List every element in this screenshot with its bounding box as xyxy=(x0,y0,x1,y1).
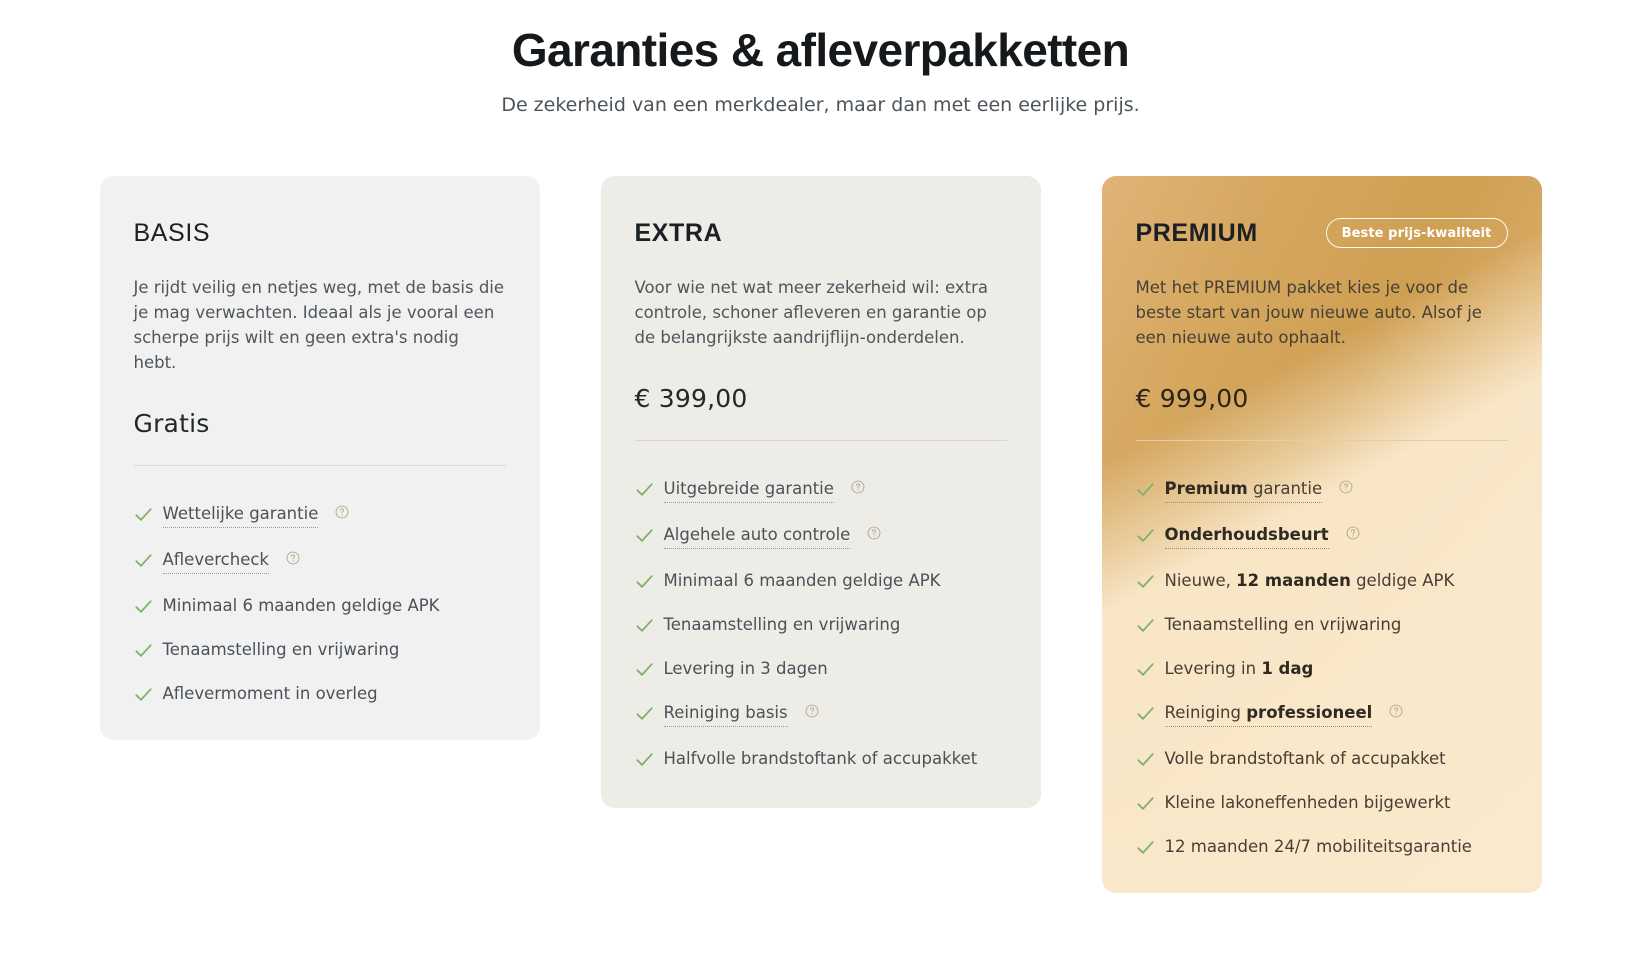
check-icon xyxy=(134,551,153,570)
card-price-basis: Gratis xyxy=(134,409,506,439)
check-icon xyxy=(1136,480,1155,499)
check-icon xyxy=(635,750,654,769)
feature-label: Volle brandstoftank of accupakket xyxy=(1165,747,1446,771)
package-card-extra[interactable]: EXTRAVoor wie net wat meer zekerheid wil… xyxy=(601,176,1041,808)
card-description-premium: Met het PREMIUM pakket kies je voor de b… xyxy=(1136,275,1508,350)
feature-item: Minimaal 6 maanden geldige APK xyxy=(635,569,1007,593)
feature-label: Tenaamstelling en vrijwaring xyxy=(664,613,901,637)
feature-item: Kleine lakoneffenheden bijgewerkt xyxy=(1136,791,1508,815)
card-description-extra: Voor wie net wat meer zekerheid wil: ext… xyxy=(635,275,1007,350)
card-description-basis: Je rijdt veilig en netjes weg, met de ba… xyxy=(134,275,506,375)
feature-label: 12 maanden 24/7 mobiliteitsgarantie xyxy=(1165,835,1472,859)
card-header-extra: EXTRA xyxy=(635,216,1007,250)
feature-list-extra: Uitgebreide garantieAlgehele auto contro… xyxy=(635,441,1007,771)
check-icon xyxy=(1136,660,1155,679)
feature-label: Premium garantie xyxy=(1165,477,1323,503)
feature-label: Levering in 3 dagen xyxy=(664,657,828,681)
feature-item[interactable]: Onderhoudsbeurt xyxy=(1136,523,1508,549)
check-icon xyxy=(1136,750,1155,769)
feature-item: Aflevermoment in overleg xyxy=(134,682,506,706)
check-icon xyxy=(134,597,153,616)
feature-list-basis: Wettelijke garantieAflevercheckMinimaal … xyxy=(134,466,506,706)
check-icon xyxy=(1136,572,1155,591)
check-icon xyxy=(134,685,153,704)
pricing-page: Garanties & afleverpakketten De zekerhei… xyxy=(0,0,1641,960)
check-icon xyxy=(134,641,153,660)
check-icon xyxy=(1136,616,1155,635)
feature-label: Reiniging professioneel xyxy=(1165,701,1373,727)
feature-label: Levering in 1 dag xyxy=(1165,657,1314,681)
help-circle-icon[interactable] xyxy=(1346,526,1360,540)
feature-label: Kleine lakoneffenheden bijgewerkt xyxy=(1165,791,1451,815)
card-title-premium: PREMIUM xyxy=(1136,218,1258,248)
feature-label: Tenaamstelling en vrijwaring xyxy=(163,638,400,662)
best-value-badge: Beste prijs-kwaliteit xyxy=(1326,218,1508,248)
feature-label: Tenaamstelling en vrijwaring xyxy=(1165,613,1402,637)
help-circle-icon[interactable] xyxy=(805,704,819,718)
help-circle-icon[interactable] xyxy=(1389,704,1403,718)
package-card-premium[interactable]: PREMIUMBeste prijs-kwaliteitMet het PREM… xyxy=(1102,176,1542,893)
feature-item: 12 maanden 24/7 mobiliteitsgarantie xyxy=(1136,835,1508,859)
check-icon xyxy=(635,704,654,723)
feature-label: Nieuwe, 12 maanden geldige APK xyxy=(1165,569,1455,593)
check-icon xyxy=(635,480,654,499)
check-icon xyxy=(635,660,654,679)
feature-label: Halfvolle brandstoftank of accupakket xyxy=(664,747,978,771)
check-icon xyxy=(1136,794,1155,813)
page-title: Garanties & afleverpakketten xyxy=(0,22,1641,78)
feature-label: Onderhoudsbeurt xyxy=(1165,523,1329,549)
feature-item[interactable]: Algehele auto controle xyxy=(635,523,1007,549)
feature-list-premium: Premium garantieOnderhoudsbeurtNieuwe, 1… xyxy=(1136,441,1508,859)
check-icon xyxy=(134,505,153,524)
feature-item: Tenaamstelling en vrijwaring xyxy=(134,638,506,662)
feature-item: Nieuwe, 12 maanden geldige APK xyxy=(1136,569,1508,593)
help-circle-icon[interactable] xyxy=(1339,480,1353,494)
card-title-extra: EXTRA xyxy=(635,218,723,248)
feature-label: Aflevercheck xyxy=(163,548,269,574)
help-circle-icon[interactable] xyxy=(335,505,349,519)
feature-label: Minimaal 6 maanden geldige APK xyxy=(664,569,941,593)
check-icon xyxy=(1136,526,1155,545)
feature-label: Wettelijke garantie xyxy=(163,502,319,528)
help-circle-icon[interactable] xyxy=(867,526,881,540)
card-price-premium: € 999,00 xyxy=(1136,384,1508,414)
feature-label: Reiniging basis xyxy=(664,701,788,727)
feature-item[interactable]: Uitgebreide garantie xyxy=(635,477,1007,503)
package-cards-container: BASISJe rijdt veilig en netjes weg, met … xyxy=(0,176,1641,893)
feature-item: Tenaamstelling en vrijwaring xyxy=(1136,613,1508,637)
feature-label: Minimaal 6 maanden geldige APK xyxy=(163,594,440,618)
check-icon xyxy=(1136,838,1155,857)
feature-label: Algehele auto controle xyxy=(664,523,851,549)
help-circle-icon[interactable] xyxy=(851,480,865,494)
page-subtitle: De zekerheid van een merkdealer, maar da… xyxy=(0,92,1641,118)
feature-label: Uitgebreide garantie xyxy=(664,477,834,503)
page-header: Garanties & afleverpakketten De zekerhei… xyxy=(0,0,1641,118)
feature-item[interactable]: Reiniging professioneel xyxy=(1136,701,1508,727)
feature-item: Volle brandstoftank of accupakket xyxy=(1136,747,1508,771)
check-icon xyxy=(635,616,654,635)
feature-item: Levering in 3 dagen xyxy=(635,657,1007,681)
package-card-basis[interactable]: BASISJe rijdt veilig en netjes weg, met … xyxy=(100,176,540,740)
check-icon xyxy=(635,572,654,591)
feature-item: Levering in 1 dag xyxy=(1136,657,1508,681)
feature-item: Tenaamstelling en vrijwaring xyxy=(635,613,1007,637)
feature-item[interactable]: Wettelijke garantie xyxy=(134,502,506,528)
card-header-premium: PREMIUMBeste prijs-kwaliteit xyxy=(1136,216,1508,250)
feature-item[interactable]: Premium garantie xyxy=(1136,477,1508,503)
check-icon xyxy=(635,526,654,545)
help-circle-icon[interactable] xyxy=(286,551,300,565)
feature-item[interactable]: Reiniging basis xyxy=(635,701,1007,727)
feature-item: Minimaal 6 maanden geldige APK xyxy=(134,594,506,618)
feature-item: Halfvolle brandstoftank of accupakket xyxy=(635,747,1007,771)
feature-item[interactable]: Aflevercheck xyxy=(134,548,506,574)
card-title-basis: BASIS xyxy=(134,218,211,248)
check-icon xyxy=(1136,704,1155,723)
card-header-basis: BASIS xyxy=(134,216,506,250)
feature-label: Aflevermoment in overleg xyxy=(163,682,378,706)
card-price-extra: € 399,00 xyxy=(635,384,1007,414)
